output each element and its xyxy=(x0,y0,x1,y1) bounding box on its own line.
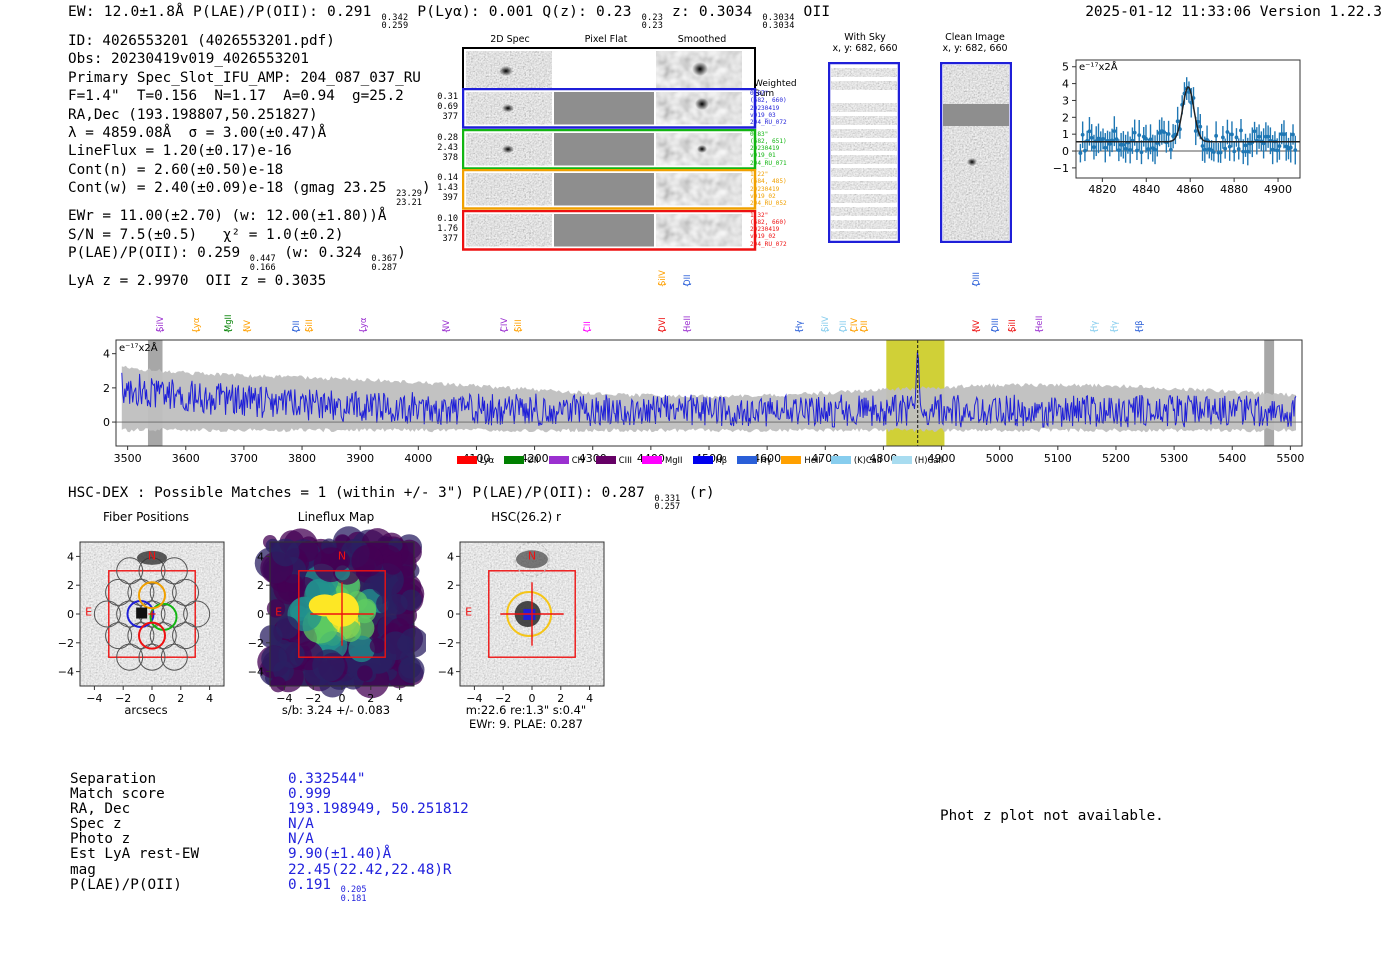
info-radec: RA,Dec (193.198807,50.251827) xyxy=(68,106,431,124)
emission-line-label: Hγ xyxy=(794,280,804,332)
svg-text:2: 2 xyxy=(67,579,74,592)
emission-line-bracket: { xyxy=(1134,328,1144,333)
emission-line-label: HeII xyxy=(682,280,692,332)
svg-text:0: 0 xyxy=(447,608,454,621)
col-title-pixelflat: Pixel Flat xyxy=(558,34,654,45)
svg-text:0: 0 xyxy=(257,608,264,621)
cutout-caption-2: EWr: 9. PLAE: 0.287 xyxy=(436,717,616,731)
emission-line-label: Hβ xyxy=(1134,280,1144,332)
emission-line-bracket: { xyxy=(304,328,314,333)
z-fraction: 0.30340.3034 xyxy=(762,14,794,32)
legend-label: HeII xyxy=(804,455,820,465)
line-fit-svg: 543210−148204840486048804900e⁻¹⁷x2Å xyxy=(1042,52,1304,202)
spec2d-row-stats: 0.282.43378 xyxy=(424,133,458,164)
emission-line-label: MgII xyxy=(223,280,233,332)
with-sky-image xyxy=(828,62,900,243)
svg-text:E: E xyxy=(85,605,92,618)
qz-fraction: 0.230.23 xyxy=(642,14,664,32)
table-key: Est LyA rest-EW xyxy=(70,847,199,862)
spec2d-row-image xyxy=(462,88,758,130)
info-cont-w: Cont(w) = 2.40(±0.09)e-18 (gmag 23.25 23… xyxy=(68,179,431,207)
spec2d-row-meta: 1.32"(682, 660)20230419v019_02204_RU_072 xyxy=(750,212,810,248)
emission-line-bracket: { xyxy=(1109,328,1119,333)
emission-line-bracket: { xyxy=(971,282,981,287)
svg-text:−4: −4 xyxy=(58,666,74,679)
svg-text:e⁻¹⁷x2Å: e⁻¹⁷x2Å xyxy=(119,341,158,354)
legend-label: (K)CalI xyxy=(854,455,882,465)
svg-text:1: 1 xyxy=(1062,128,1069,141)
emission-line-label: SiIV xyxy=(657,234,667,286)
spec2d-row-image xyxy=(462,129,758,171)
svg-text:4: 4 xyxy=(257,550,264,563)
table-key: mag xyxy=(70,863,96,878)
emission-line-label: OIII xyxy=(971,234,981,286)
legend-swatch xyxy=(549,456,569,464)
spec2d-row-meta: 0.83"(682, 651)20230419v019_01204_RU_071 xyxy=(750,131,810,167)
svg-text:4840: 4840 xyxy=(1132,183,1160,196)
emission-line-bracket: { xyxy=(582,328,592,333)
emission-line-label: OII xyxy=(859,280,869,332)
emission-line-label: HeII xyxy=(1034,280,1044,332)
emission-line-label: NV xyxy=(971,280,981,332)
emission-line-bracket: { xyxy=(155,328,165,333)
legend-item: HeII xyxy=(781,455,820,465)
svg-text:0: 0 xyxy=(67,608,74,621)
plae-fraction: 0.3420.259 xyxy=(382,14,409,32)
emission-line-bracket: { xyxy=(820,328,830,333)
table-key: Match score xyxy=(70,787,165,802)
cutout-caption: m:22.6 re:1.3" s:0.4" xyxy=(436,703,616,717)
col-title-smoothed: Smoothed xyxy=(654,34,750,45)
legend-label: CIV xyxy=(572,455,586,465)
col-title-2dspec: 2D Spec xyxy=(462,34,558,45)
svg-text:−1: −1 xyxy=(1053,162,1069,175)
svg-text:−2: −2 xyxy=(438,637,454,650)
timestamp-version: 2025-01-12 11:33:06 Version 1.22.3 xyxy=(1085,4,1382,20)
emission-line-bracket: { xyxy=(1034,328,1044,333)
hscdex-header: HSC-DEX : Possible Matches = 1 (within +… xyxy=(68,485,715,512)
svg-text:2: 2 xyxy=(447,579,454,592)
clean-image-title: Clean Image xyxy=(925,32,1025,43)
header-summary-text: EW: 12.0±1.8Å P(LAE)/P(OII): 0.291 xyxy=(68,4,381,20)
spec2d-row-image xyxy=(462,210,758,252)
legend-item: (H)CalI xyxy=(892,455,944,465)
cutout-image: NE−4−4−2−2002244 xyxy=(56,524,236,724)
emission-line-bracket: { xyxy=(838,328,848,333)
legend-item: CIV xyxy=(549,455,586,465)
full-spectrum-plot: 4203500360037003800390040004100420043004… xyxy=(94,268,1306,468)
table-key: Photo z xyxy=(70,832,130,847)
clean-image-data xyxy=(940,62,1012,243)
cutout-panel-title: Fiber Positions xyxy=(56,510,236,524)
svg-text:4: 4 xyxy=(67,550,74,563)
table-value: 22.45(22.42,22.48)R xyxy=(288,863,452,878)
cutout-caption: arcsecs xyxy=(56,703,236,717)
emission-line-bracket: { xyxy=(291,328,301,333)
table-key: Separation xyxy=(70,772,156,787)
header-summary: EW: 12.0±1.8Å P(LAE)/P(OII): 0.291 0.342… xyxy=(68,4,830,31)
svg-text:0: 0 xyxy=(103,416,110,429)
emission-line-bracket: { xyxy=(657,282,667,287)
table-value: N/A xyxy=(288,817,314,832)
line-fit-plot: 543210−148204840486048804900e⁻¹⁷x2Å xyxy=(1042,52,1304,202)
legend-swatch xyxy=(596,456,616,464)
legend-swatch xyxy=(781,456,801,464)
cutout-image: NE−4−4−2−2002244 xyxy=(436,524,616,724)
svg-text:N: N xyxy=(338,549,346,562)
legend-label: Lyα xyxy=(480,455,494,465)
legend-swatch xyxy=(737,456,757,464)
spec2d-row-stats: 0.310.69377 xyxy=(424,92,458,123)
emission-line-label: NV xyxy=(441,280,451,332)
legend-swatch xyxy=(892,456,912,464)
svg-text:4: 4 xyxy=(1062,78,1069,91)
svg-text:−2: −2 xyxy=(58,637,74,650)
svg-text:4: 4 xyxy=(103,348,110,361)
info-lambda: λ = 4859.08Å σ = 3.00(±0.47)Å xyxy=(68,124,431,142)
emission-line-bracket: { xyxy=(682,328,692,333)
svg-text:0: 0 xyxy=(1062,145,1069,158)
info-ewr: EWr = 11.00(±2.70) (w: 12.00(±1.80))Å xyxy=(68,207,431,225)
cutout-panel-title: Lineflux Map xyxy=(246,510,426,524)
legend-item: (K)CalI xyxy=(831,455,882,465)
emission-line-bracket: { xyxy=(223,328,233,333)
table-key: RA, Dec xyxy=(70,802,130,817)
legend-label: MgII xyxy=(665,455,682,465)
svg-text:−4: −4 xyxy=(438,666,454,679)
info-lineflux: LineFlux = 1.20(±0.17)e-16 xyxy=(68,142,431,160)
spectrum-svg: 4203500360037003800390040004100420043004… xyxy=(94,268,1306,468)
table-value: 0.332544" xyxy=(288,772,365,787)
emission-line-label: SiII xyxy=(513,280,523,332)
emission-line-bracket: { xyxy=(1089,328,1099,333)
legend-label: (H)CalI xyxy=(915,455,944,465)
legend-item: CIII xyxy=(596,455,632,465)
emission-line-label: NV xyxy=(242,280,252,332)
svg-text:E: E xyxy=(275,605,282,618)
emission-line-bracket: { xyxy=(971,328,981,333)
emission-line-label: Lyα xyxy=(358,280,368,332)
table-key: P(LAE)/P(OII) xyxy=(70,878,182,893)
emission-line-label: SiII xyxy=(304,280,314,332)
svg-text:4820: 4820 xyxy=(1088,183,1116,196)
legend-item: Hγ xyxy=(737,455,771,465)
emission-line-bracket: { xyxy=(682,282,692,287)
spectrum-legend: LyαOIICIVCIIIMgIIHβHγHeII(K)CalI(H)CalI xyxy=(94,455,1306,465)
emission-line-bracket: { xyxy=(242,328,252,333)
legend-label: Hβ xyxy=(716,455,728,465)
spec2d-row-image xyxy=(462,169,758,211)
emission-line-bracket: { xyxy=(794,328,804,333)
cutout-panel-row: Fiber PositionsNE−4−4−2−2002244arcsecsLi… xyxy=(56,510,616,735)
svg-text:4900: 4900 xyxy=(1264,183,1292,196)
svg-text:2: 2 xyxy=(103,382,110,395)
plae-fraction: 0.2050.181 xyxy=(341,886,367,904)
info-obs: Obs: 20230419v019_4026553201 xyxy=(68,50,431,68)
legend-item: OII xyxy=(504,455,539,465)
svg-text:N: N xyxy=(148,549,156,562)
svg-text:4: 4 xyxy=(447,550,454,563)
svg-text:4860: 4860 xyxy=(1176,183,1204,196)
emission-line-label: CII xyxy=(582,280,592,332)
cutout-image: NE−4−4−2−2002244 xyxy=(246,524,426,724)
emission-line-bracket: { xyxy=(859,328,869,333)
legend-item: Hβ xyxy=(693,455,728,465)
photz-note: Phot z plot not available. xyxy=(940,808,1164,824)
emission-line-label: SiIV xyxy=(820,280,830,332)
legend-swatch xyxy=(831,456,851,464)
info-sn: S/N = 7.5(±0.5) χ² = 1.0(±0.2) xyxy=(68,226,431,244)
emission-line-label: SiIV xyxy=(155,280,165,332)
info-slot: Primary Spec_Slot_IFU_AMP: 204_087_037_R… xyxy=(68,69,431,87)
info-cont-n: Cont(n) = 2.60(±0.50)e-18 xyxy=(68,161,431,179)
emission-line-label: SiII xyxy=(1007,280,1017,332)
with-sky-panel: With Sky x, y: 682, 660 xyxy=(820,32,910,54)
emission-line-label: CIV xyxy=(849,280,859,332)
emission-line-bracket: { xyxy=(358,328,368,333)
svg-text:5: 5 xyxy=(1062,61,1069,74)
cutout-panel-title: HSC(26.2) r xyxy=(436,510,616,524)
legend-item: MgII xyxy=(642,455,682,465)
spec2d-row-meta: 1.22"(684, 485)20230419v019_02204_RU_052 xyxy=(750,171,810,207)
emission-line-label: OVI xyxy=(657,280,667,332)
table-value: 9.90(±1.40)Å xyxy=(288,847,391,862)
spec2d-row-meta: 0.67"(682, 660)20230419v019_03204_RU_072 xyxy=(750,90,810,126)
info-seeing: F=1.4" T=0.156 N=1.17 A=0.94 g=25.2 xyxy=(68,87,431,105)
svg-text:−2: −2 xyxy=(248,637,264,650)
svg-text:3: 3 xyxy=(1062,94,1069,107)
legend-label: Hγ xyxy=(760,455,771,465)
emission-line-bracket: { xyxy=(499,328,509,333)
table-value: 193.198949, 50.251812 xyxy=(288,802,469,817)
svg-text:N: N xyxy=(528,549,536,562)
linefit-unit-label: e⁻¹⁷x2Å xyxy=(1079,60,1118,73)
object-info-block: ID: 4026553201 (4026553201.pdf) Obs: 202… xyxy=(68,32,431,291)
legend-swatch xyxy=(642,456,662,464)
svg-text:4880: 4880 xyxy=(1220,183,1248,196)
emission-line-label: CIV xyxy=(499,280,509,332)
table-value: 0.191 0.2050.181 xyxy=(288,878,367,904)
with-sky-title: With Sky xyxy=(820,32,910,43)
emission-line-label: Lyα xyxy=(191,280,201,332)
emission-line-label: Hγ xyxy=(1089,280,1099,332)
table-key: Spec z xyxy=(70,817,122,832)
spec2d-row-stats: 0.141.43397 xyxy=(424,173,458,204)
legend-swatch xyxy=(457,456,477,464)
emission-line-label: OII xyxy=(682,234,692,286)
legend-swatch xyxy=(693,456,713,464)
emission-line-bracket: { xyxy=(513,328,523,333)
emission-line-bracket: { xyxy=(657,328,667,333)
with-sky-sub: x, y: 682, 660 xyxy=(820,43,910,54)
legend-label: OII xyxy=(527,455,539,465)
svg-text:2: 2 xyxy=(257,579,264,592)
emission-line-bracket: { xyxy=(1007,328,1017,333)
svg-text:E: E xyxy=(465,605,472,618)
legend-item: Lyα xyxy=(457,455,494,465)
cutout-caption: s/b: 3.24 +/- 0.083 xyxy=(246,703,426,717)
legend-swatch xyxy=(504,456,524,464)
clean-image-sub: x, y: 682, 660 xyxy=(925,43,1025,54)
clean-image-panel: Clean Image x, y: 682, 660 xyxy=(925,32,1025,54)
emission-line-label: OII xyxy=(291,280,301,332)
emission-line-bracket: { xyxy=(191,328,201,333)
legend-label: CIII xyxy=(619,455,632,465)
svg-text:2: 2 xyxy=(1062,111,1069,124)
svg-text:−4: −4 xyxy=(248,666,264,679)
emission-line-bracket: { xyxy=(990,328,1000,333)
emission-line-bracket: { xyxy=(441,328,451,333)
emission-line-label: OII xyxy=(838,280,848,332)
spec2d-row-stats: 0.101.76377 xyxy=(424,214,458,245)
emission-line-label: Hγ xyxy=(1109,280,1119,332)
table-value: 0.999 xyxy=(288,787,331,802)
emission-line-bracket: { xyxy=(849,328,859,333)
info-id: ID: 4026553201 (4026553201.pdf) xyxy=(68,32,431,50)
emission-line-label: OIII xyxy=(990,280,1000,332)
